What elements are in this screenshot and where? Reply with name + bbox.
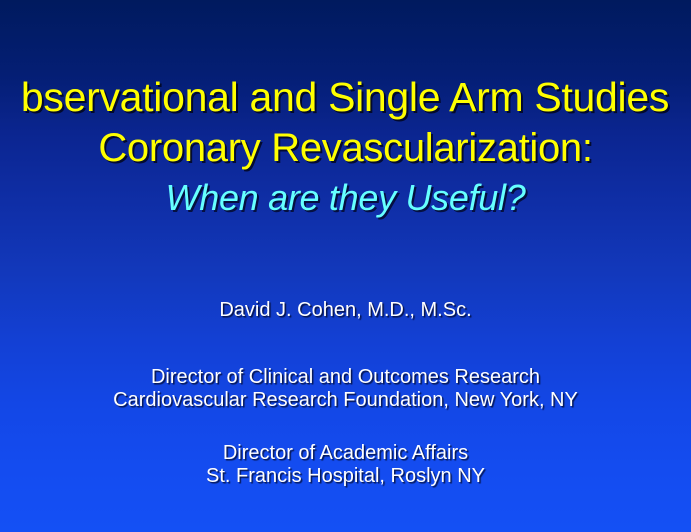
title-slide: bservational and Single Arm Studies Coro… bbox=[0, 0, 691, 532]
affiliation-primary-institution: Cardiovascular Research Foundation, New … bbox=[0, 389, 691, 412]
slide-title-block: bservational and Single Arm Studies Coro… bbox=[0, 72, 691, 221]
affiliation-primary: Director of Clinical and Outcomes Resear… bbox=[0, 366, 691, 412]
title-line-primary-2: Coronary Revascularization: bbox=[0, 123, 691, 174]
affiliation-secondary-institution: St. Francis Hospital, Roslyn NY bbox=[0, 465, 691, 488]
affiliation-secondary-role: Director of Academic Affairs bbox=[0, 442, 691, 465]
title-line-primary-1: bservational and Single Arm Studies bbox=[0, 72, 691, 123]
presenter-name: David J. Cohen, M.D., M.Sc. bbox=[0, 298, 691, 322]
title-subtitle-question: When are they Useful? bbox=[0, 174, 691, 221]
affiliation-secondary: Director of Academic Affairs St. Francis… bbox=[0, 442, 691, 488]
affiliation-primary-role: Director of Clinical and Outcomes Resear… bbox=[0, 366, 691, 389]
